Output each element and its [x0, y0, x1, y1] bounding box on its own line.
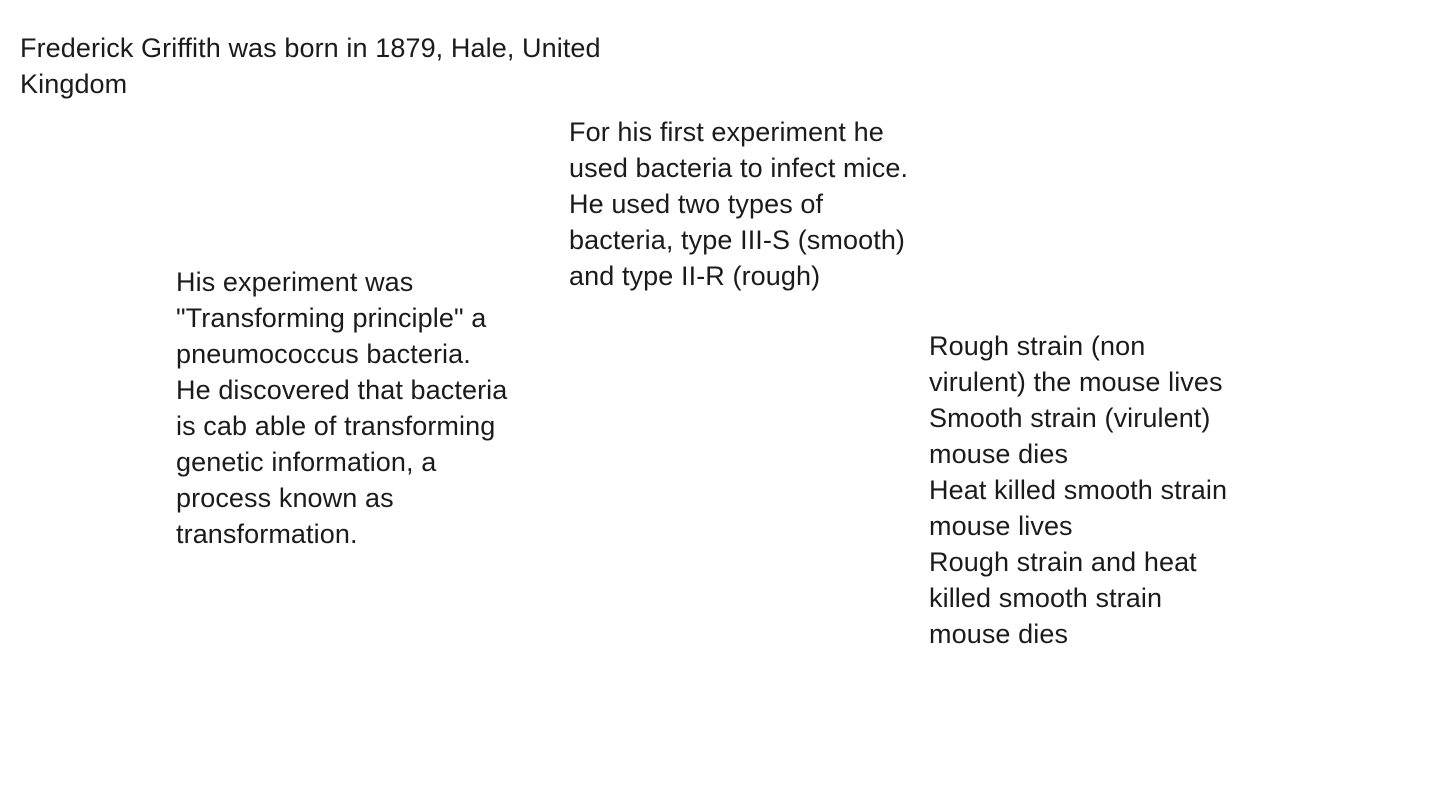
text-block-title[interactable]: Frederick Griffith was born in 1879, Hal… — [20, 30, 680, 102]
slide-canvas: Frederick Griffith was born in 1879, Hal… — [0, 0, 1440, 810]
text-block-strain-results[interactable]: Rough strain (non virulent) the mouse li… — [929, 328, 1234, 652]
text-block-first-experiment[interactable]: For his first experiment he used bacteri… — [569, 114, 919, 294]
text-block-transforming-principle[interactable]: His experiment was "Transforming princip… — [176, 264, 524, 552]
